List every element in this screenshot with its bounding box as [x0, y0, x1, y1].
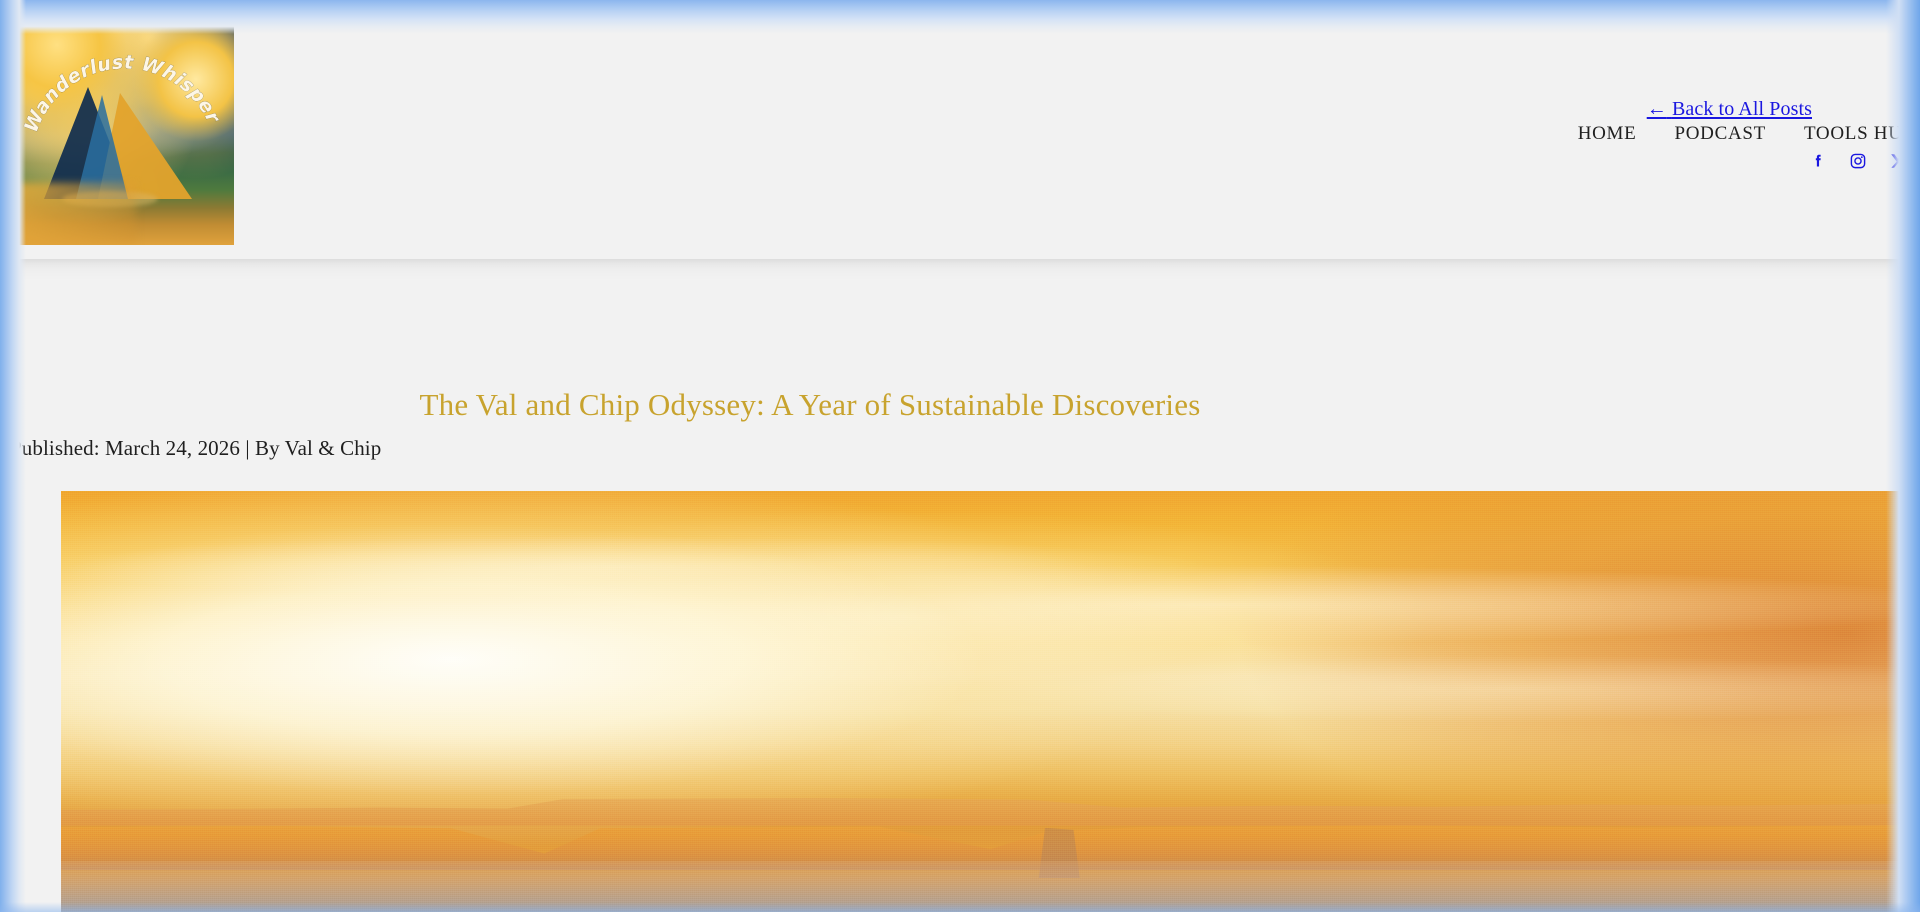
back-to-all-posts-label: Back to All Posts [1672, 98, 1812, 120]
instagram-link[interactable] [1848, 151, 1868, 171]
header-navigation: ← Back to All Posts HOME PODCAST TOOLS H… [1560, 98, 1920, 171]
instagram-icon [1849, 152, 1867, 170]
hero-foreground-haze [61, 861, 1920, 912]
menu-link-podcast[interactable]: PODCAST [1674, 123, 1765, 144]
site-header: Wanderlust Whispers ← Back to All Posts … [0, 0, 1920, 259]
menu-item-podcast[interactable]: PODCAST [1674, 123, 1765, 145]
twitter-x-link[interactable] [1888, 151, 1908, 171]
article: The Val and Chip Odyssey: A Year of Sust… [0, 281, 1920, 912]
post-meta: Published: March 24, 2026 | By Val & Chi… [10, 436, 381, 461]
page-title: The Val and Chip Odyssey: A Year of Sust… [0, 387, 1920, 423]
back-to-all-posts-link[interactable]: ← Back to All Posts [1560, 98, 1920, 121]
back-arrow-icon: ← [1647, 98, 1667, 120]
twitter-x-icon [1889, 152, 1907, 170]
hero-image [61, 491, 1920, 912]
menu-item-tools-hub[interactable]: TOOLS HUB [1804, 123, 1916, 145]
menu-link-home[interactable]: HOME [1578, 123, 1637, 144]
facebook-link[interactable] [1808, 151, 1828, 171]
logo-path-highlight [16, 183, 136, 245]
main-menu: HOME PODCAST TOOLS HUB [1560, 123, 1920, 145]
menu-item-home[interactable]: HOME [1578, 123, 1637, 145]
site-logo[interactable]: Wanderlust Whispers [10, 15, 234, 245]
facebook-icon [1809, 152, 1827, 170]
header-divider [0, 259, 1920, 281]
social-links [1560, 151, 1920, 171]
menu-link-tools-hub[interactable]: TOOLS HUB [1804, 123, 1916, 144]
